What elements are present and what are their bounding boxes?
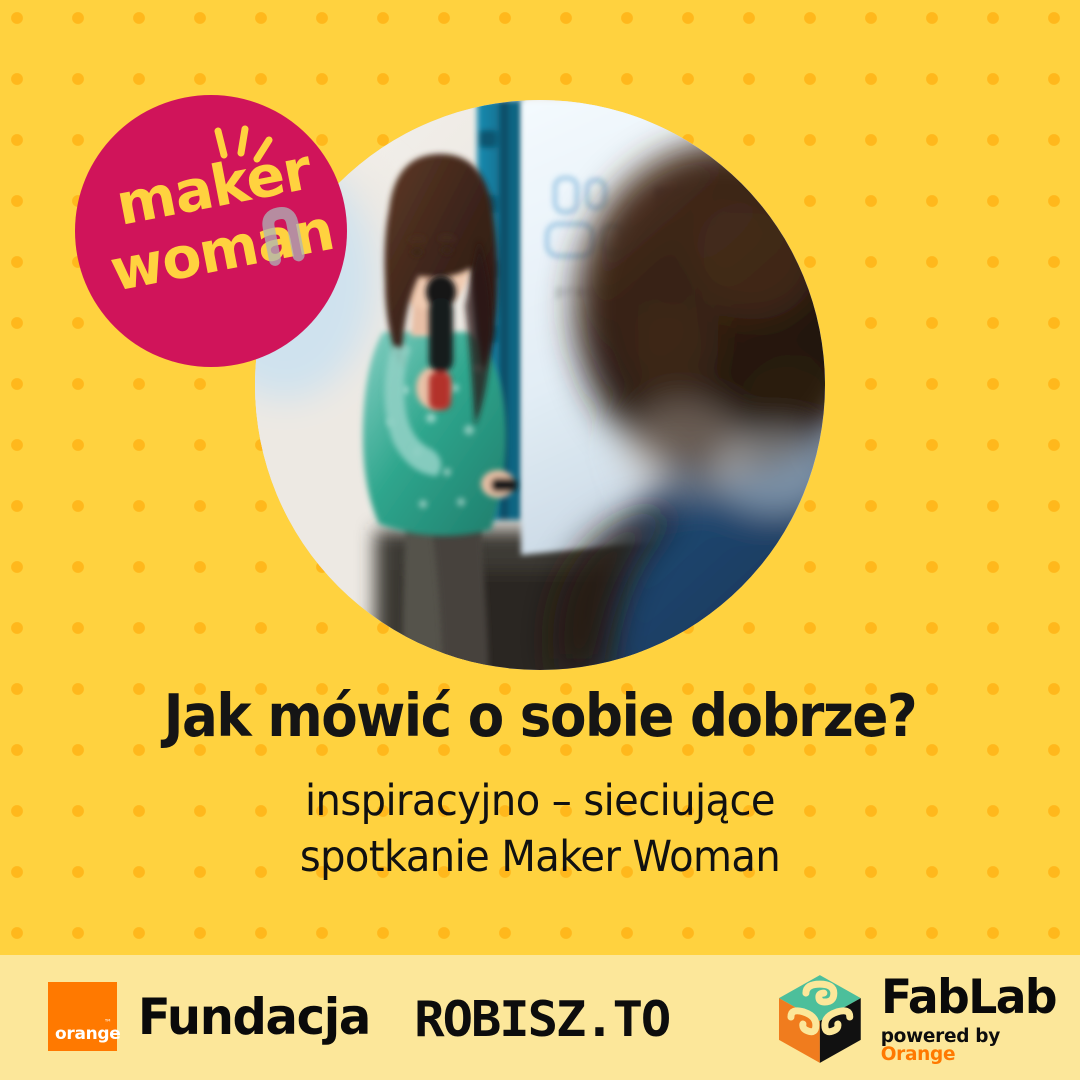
maker-woman-badge-art: maker woman [75, 95, 347, 367]
orange-square-mark: orange ™ [48, 982, 117, 1051]
page-subtitle: inspiracyjno – sieciujące spotkanie Make… [38, 774, 1042, 886]
sponsor-footer: orange ™ Fundacja ROBISZ.TO [0, 955, 1080, 1080]
fablab-tagline-brand: Orange [881, 1044, 956, 1065]
subtitle-line-1: inspiracyjno – sieciujące [305, 776, 775, 826]
fablab-tagline: powered by Orange [881, 1028, 1080, 1065]
page-title: Jak mówić o sobie dobrze? [54, 686, 1026, 745]
fablab-title: FabLab [881, 974, 1074, 1021]
orange-fundacja-logo: orange ™ Fundacja [48, 982, 375, 1051]
poster-canvas: PAK pracownia aktywnego korzyst [0, 0, 1080, 1080]
trademark-symbol: ™ [104, 1018, 112, 1027]
fablab-wordmark: FabLab powered by Orange [881, 974, 1080, 1065]
fundacja-label: Fundacja [138, 988, 370, 1046]
orange-wordmark: orange [55, 1024, 121, 1044]
subtitle-line-2: spotkanie Maker Woman [300, 832, 780, 882]
maker-woman-badge: maker woman [75, 95, 347, 367]
fablab-logo: FabLab powered by Orange [776, 973, 1080, 1065]
fablab-cube-icon [776, 973, 864, 1065]
headline-block: Jak mówić o sobie dobrze? inspiracyjno –… [0, 686, 1080, 886]
robisz-to-logo: ROBISZ.TO [414, 991, 669, 1048]
